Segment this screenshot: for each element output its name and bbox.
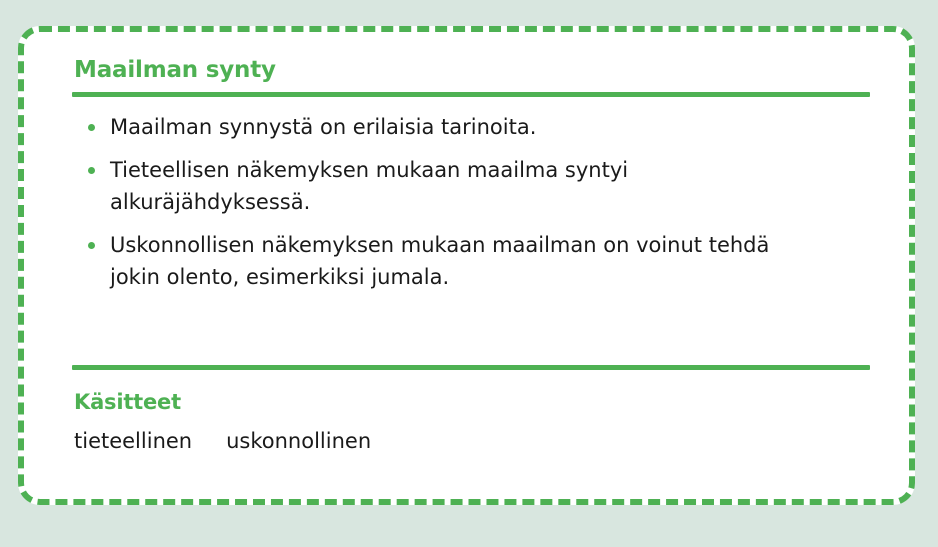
concept-term: uskonnollinen (226, 428, 371, 455)
bullet-dot-icon (88, 167, 95, 174)
page-title: Maailman synty (72, 58, 869, 83)
bullet-list: Maailman synnystä on erilaisia tarinoita… (72, 97, 869, 294)
list-item: Maailman synnystä on erilaisia tarinoita… (86, 112, 810, 144)
list-item-text: Maailman synnystä on erilaisia tarinoita… (110, 115, 536, 139)
list-item: Tieteellisen näkemyksen mukaan maailma s… (86, 155, 810, 219)
concepts-term-list: tieteellinen uskonnollinen (72, 428, 870, 455)
concepts-title: Käsitteet (74, 390, 870, 414)
bullet-dot-icon (88, 242, 95, 249)
concepts-section: Käsitteet tieteellinen uskonnollinen (72, 365, 870, 455)
list-item-text: Tieteellisen näkemyksen mukaan maailma s… (110, 158, 628, 214)
bullet-dot-icon (88, 124, 95, 131)
lesson-card: Maailman synty Maailman synnystä on eril… (18, 26, 915, 505)
list-item: Uskonnollisen näkemyksen mukaan maailman… (86, 230, 810, 294)
concept-term: tieteellinen (74, 428, 192, 455)
page-root: Maailman synty Maailman synnystä on eril… (0, 0, 938, 547)
concepts-divider (72, 365, 870, 370)
list-item-text: Uskonnollisen näkemyksen mukaan maailman… (110, 233, 769, 289)
